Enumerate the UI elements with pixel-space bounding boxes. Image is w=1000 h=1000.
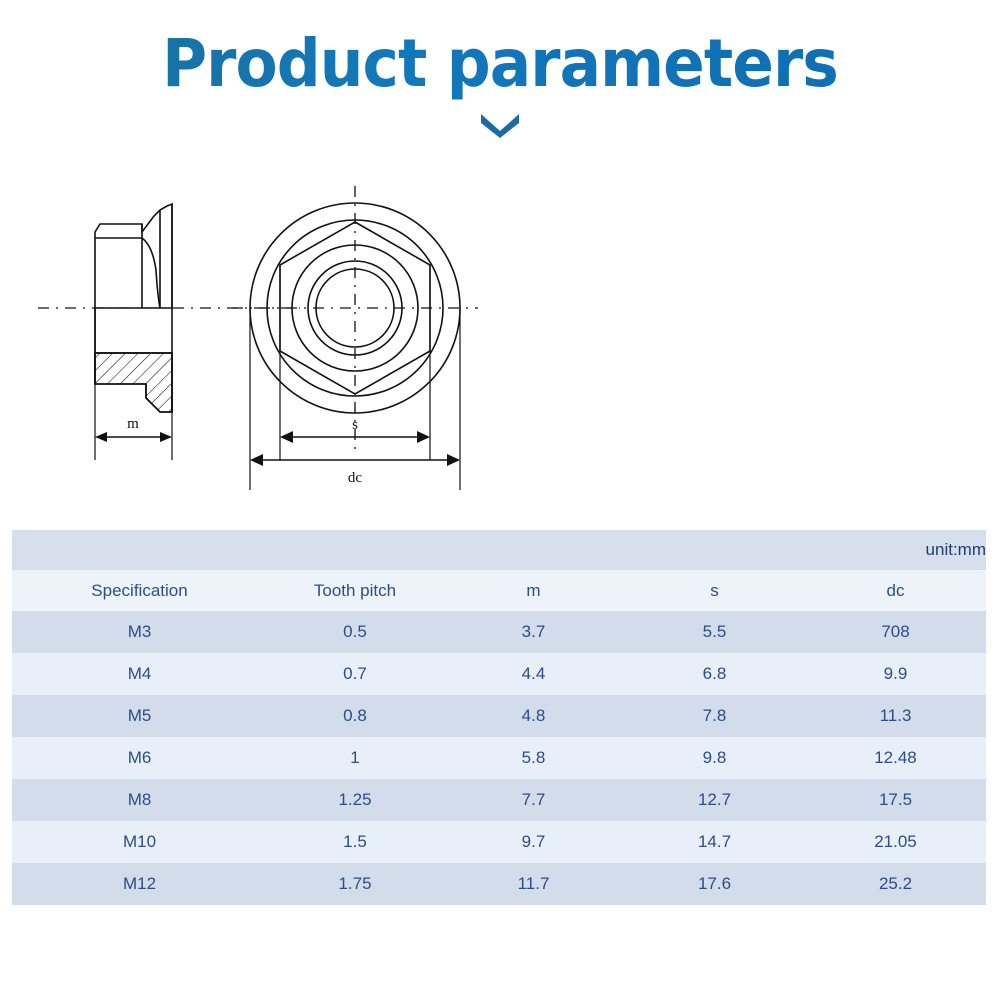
cell-tooth-pitch: 0.8 bbox=[267, 695, 443, 737]
table-row: M6 1 5.8 9.8 12.48 bbox=[12, 737, 986, 779]
column-header-tooth-pitch: Tooth pitch bbox=[267, 570, 443, 611]
spec-table-wrapper: unit:mm Specification Tooth pitch m s dc… bbox=[12, 530, 986, 905]
cell-s: 12.7 bbox=[624, 779, 805, 821]
side-view-bore-region bbox=[95, 308, 172, 353]
cell-s: 14.7 bbox=[624, 821, 805, 863]
cell-s: 5.5 bbox=[624, 611, 805, 653]
cell-tooth-pitch: 0.5 bbox=[267, 611, 443, 653]
table-header-row: Specification Tooth pitch m s dc bbox=[12, 570, 986, 611]
side-view-hatched-section bbox=[95, 353, 172, 412]
side-section-view: m bbox=[38, 204, 300, 460]
chevron-down-icon bbox=[478, 112, 522, 138]
column-header-m: m bbox=[443, 570, 624, 611]
cell-m: 5.8 bbox=[443, 737, 624, 779]
cell-m: 11.7 bbox=[443, 863, 624, 905]
column-header-s: s bbox=[624, 570, 805, 611]
spec-table-body: unit:mm Specification Tooth pitch m s dc… bbox=[12, 530, 986, 905]
cell-m: 4.4 bbox=[443, 653, 624, 695]
unit-note: unit:mm bbox=[12, 530, 986, 570]
cell-m: 7.7 bbox=[443, 779, 624, 821]
flange-nut-drawing-svg: m bbox=[0, 160, 1000, 510]
cell-m: 4.8 bbox=[443, 695, 624, 737]
table-row: M10 1.5 9.7 14.7 21.05 bbox=[12, 821, 986, 863]
column-header-specification: Specification bbox=[12, 570, 267, 611]
page-title: Product parameters bbox=[35, 26, 965, 102]
top-view-thread-minor-circle bbox=[316, 269, 394, 347]
cell-dc: 11.3 bbox=[805, 695, 986, 737]
unit-row: unit:mm bbox=[12, 530, 986, 570]
dc-dimension-label: dc bbox=[348, 470, 363, 486]
cell-specification: M3 bbox=[12, 611, 267, 653]
table-row: M8 1.25 7.7 12.7 17.5 bbox=[12, 779, 986, 821]
spec-table: unit:mm Specification Tooth pitch m s dc… bbox=[12, 530, 986, 905]
cell-m: 3.7 bbox=[443, 611, 624, 653]
cell-specification: M4 bbox=[12, 653, 267, 695]
side-view-flange-fillet bbox=[142, 238, 160, 308]
cell-s: 17.6 bbox=[624, 863, 805, 905]
table-row: M12 1.75 11.7 17.6 25.2 bbox=[12, 863, 986, 905]
top-view: s dc bbox=[232, 186, 478, 490]
cell-s: 6.8 bbox=[624, 653, 805, 695]
table-row: M4 0.7 4.4 6.8 9.9 bbox=[12, 653, 986, 695]
cell-dc: 25.2 bbox=[805, 863, 986, 905]
cell-tooth-pitch: 1.75 bbox=[267, 863, 443, 905]
cell-specification: M6 bbox=[12, 737, 267, 779]
cell-tooth-pitch: 1.25 bbox=[267, 779, 443, 821]
cell-dc: 12.48 bbox=[805, 737, 986, 779]
technical-drawing: m bbox=[0, 160, 1000, 510]
cell-specification: M10 bbox=[12, 821, 267, 863]
m-dimension-label: m bbox=[127, 416, 139, 432]
cell-m: 9.7 bbox=[443, 821, 624, 863]
cell-specification: M8 bbox=[12, 779, 267, 821]
dc-dimension bbox=[250, 454, 460, 466]
column-header-dc: dc bbox=[805, 570, 986, 611]
cell-specification: M5 bbox=[12, 695, 267, 737]
table-row: M3 0.5 3.7 5.5 708 bbox=[12, 611, 986, 653]
cell-dc: 17.5 bbox=[805, 779, 986, 821]
m-dimension bbox=[95, 432, 172, 442]
table-row: M5 0.8 4.8 7.8 11.3 bbox=[12, 695, 986, 737]
cell-dc: 708 bbox=[805, 611, 986, 653]
cell-tooth-pitch: 1 bbox=[267, 737, 443, 779]
cell-specification: M12 bbox=[12, 863, 267, 905]
cell-dc: 9.9 bbox=[805, 653, 986, 695]
cell-dc: 21.05 bbox=[805, 821, 986, 863]
cell-s: 9.8 bbox=[624, 737, 805, 779]
s-dimension-label: s bbox=[352, 417, 358, 433]
cell-s: 7.8 bbox=[624, 695, 805, 737]
page-header: Product parameters bbox=[0, 0, 1000, 150]
cell-tooth-pitch: 0.7 bbox=[267, 653, 443, 695]
cell-tooth-pitch: 1.5 bbox=[267, 821, 443, 863]
chevron-down-icon-wrapper bbox=[0, 112, 1000, 138]
